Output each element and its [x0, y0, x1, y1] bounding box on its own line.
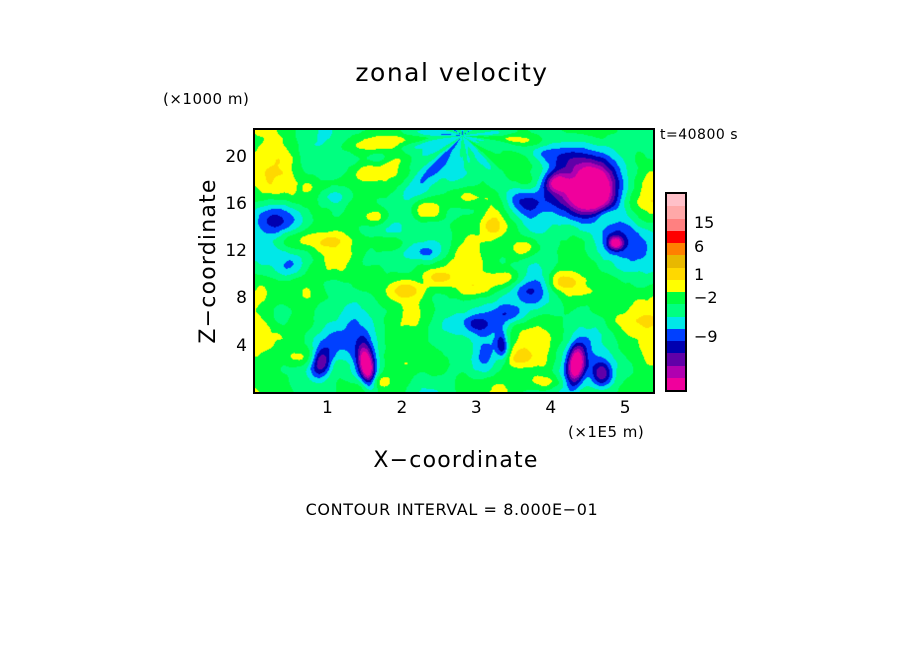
- colorbar-band: [667, 206, 685, 218]
- x-axis-title: X−coordinate: [0, 448, 904, 473]
- colorbar-band: [667, 292, 685, 304]
- colorbar-band: [667, 219, 685, 231]
- colorbar-band: [667, 353, 685, 365]
- colorbar-band: [667, 243, 685, 255]
- colorbar-tick-label: 1: [694, 265, 704, 284]
- colorbar-band: [667, 304, 685, 316]
- x-tick-label: 3: [456, 398, 496, 418]
- colorbar-tick-label: −2: [694, 288, 718, 307]
- colorbar-band: [667, 268, 685, 280]
- y-axis-title: Z−coordinate: [196, 150, 221, 372]
- colorbar-band: [667, 231, 685, 243]
- colorbar-tick-label: 6: [694, 237, 704, 256]
- colorbar-band: [667, 341, 685, 353]
- x-tick-label: 5: [605, 398, 645, 418]
- y-axis-unit-label: (×1000 m): [163, 90, 249, 108]
- contour-field-canvas: [255, 130, 653, 392]
- contour-interval-label: CONTOUR INTERVAL = 8.000E−01: [0, 500, 904, 519]
- colorbar-band: [667, 255, 685, 267]
- colorbar: [665, 192, 687, 392]
- colorbar-tick-label: −9: [694, 327, 718, 346]
- x-tick-label: 4: [531, 398, 571, 418]
- colorbar-band: [667, 317, 685, 329]
- time-annotation: t=40800 s: [660, 127, 738, 143]
- colorbar-band: [667, 329, 685, 341]
- colorbar-tick-label: 15: [694, 213, 714, 232]
- colorbar-band: [667, 366, 685, 378]
- page-title: zonal velocity: [0, 58, 904, 87]
- colorbar-band: [667, 280, 685, 292]
- colorbar-band: [667, 378, 685, 390]
- x-tick-label: 2: [382, 398, 422, 418]
- x-tick-label: 1: [307, 398, 347, 418]
- colorbar-band: [667, 194, 685, 206]
- x-axis-unit-label: (×1E5 m): [568, 423, 644, 441]
- contour-plot-area: [253, 128, 655, 394]
